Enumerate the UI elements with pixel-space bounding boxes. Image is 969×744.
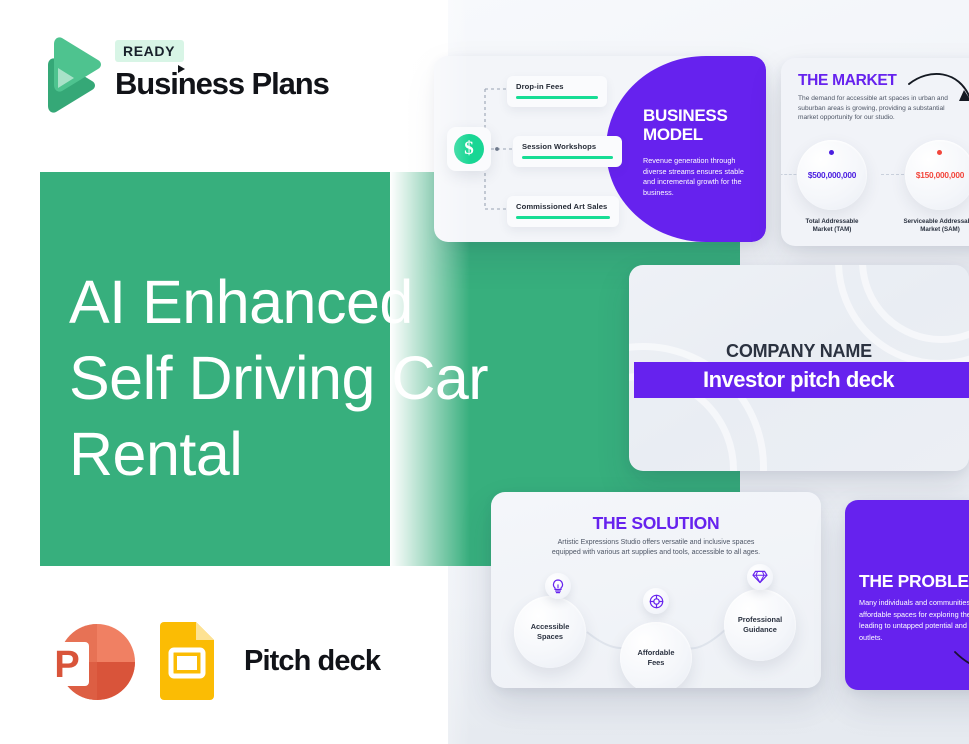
brand-lockup: READY Business Plans: [40, 38, 370, 118]
business-model-item-label: Commissioned Art Sales: [516, 202, 610, 211]
solution-node-0[interactable]: Accessible Spaces: [514, 596, 586, 668]
investor-company-name: COMPANY NAME: [629, 341, 969, 362]
problem-body: Many individuals and communities lack ac…: [859, 597, 969, 643]
solution-node-2[interactable]: Professional Guidance: [724, 589, 796, 661]
brand-text: READY Business Plans: [115, 40, 329, 102]
problem-arrow-icon: [955, 648, 969, 688]
problem-heading: THE PROBLEM: [859, 571, 969, 592]
business-model-body: Revenue generation through diverse strea…: [643, 156, 751, 198]
promo-banner: AI Enhanced Self Driving Car Rental READ…: [0, 0, 969, 744]
market-metric-dot-1: [937, 150, 942, 155]
slide-business-model[interactable]: $ Drop-in Fees Session Workshops Commiss…: [434, 56, 766, 242]
curved-arrow-icon: [907, 70, 969, 118]
target-icon: [643, 588, 669, 614]
powerpoint-letter: P: [54, 644, 79, 686]
solution-node-1[interactable]: Affordable Fees: [620, 622, 692, 688]
market-metric-caption-1: Serviceable Addressable Market (SAM): [897, 218, 969, 234]
slide-the-market[interactable]: THE MARKET The demand for accessible art…: [781, 58, 969, 246]
diamond-icon: [747, 564, 773, 590]
business-model-item-2[interactable]: Commissioned Art Sales: [507, 196, 619, 227]
business-model-item-label: Drop-in Fees: [516, 82, 598, 91]
business-model-item-bar: [516, 96, 598, 99]
play-triangle-logo-icon: [40, 38, 104, 114]
business-model-item-1[interactable]: Session Workshops: [513, 136, 622, 167]
slide-the-solution[interactable]: THE SOLUTION Artistic Expressions Studio…: [491, 492, 821, 688]
market-metric-caption-0: Total Addressable Market (TAM): [789, 218, 875, 234]
play-dot-icon: [178, 65, 185, 73]
ready-badge: READY: [115, 40, 184, 62]
market-heading: THE MARKET: [798, 72, 897, 90]
business-model-heading: BUSINESS MODEL: [643, 106, 728, 144]
format-label: Pitch deck: [244, 645, 380, 678]
google-slides-file-icon: [156, 622, 218, 700]
market-metric-dot-0: [829, 150, 834, 155]
hero-title: AI Enhanced Self Driving Car Rental: [69, 264, 589, 492]
business-model-item-bar: [516, 216, 610, 219]
investor-band: Investor pitch deck: [634, 362, 969, 398]
market-metric-value: $150,000,000: [916, 170, 964, 180]
brand-name-label: Business Plans: [115, 66, 329, 101]
business-model-item-bar: [522, 156, 613, 159]
slide-the-problem[interactable]: THE PROBLEM Many individuals and communi…: [845, 500, 969, 690]
investor-band-label: Investor pitch deck: [703, 367, 910, 393]
powerpoint-file-icon: P: [40, 616, 134, 706]
market-metric-value: $500,000,000: [808, 170, 856, 180]
format-list: P Pitch deck: [40, 616, 380, 706]
brand-name: Business Plans: [115, 66, 329, 102]
business-model-item-label: Session Workshops: [522, 142, 613, 151]
lightbulb-icon: [545, 573, 571, 599]
business-model-item-0[interactable]: Drop-in Fees: [507, 76, 607, 107]
